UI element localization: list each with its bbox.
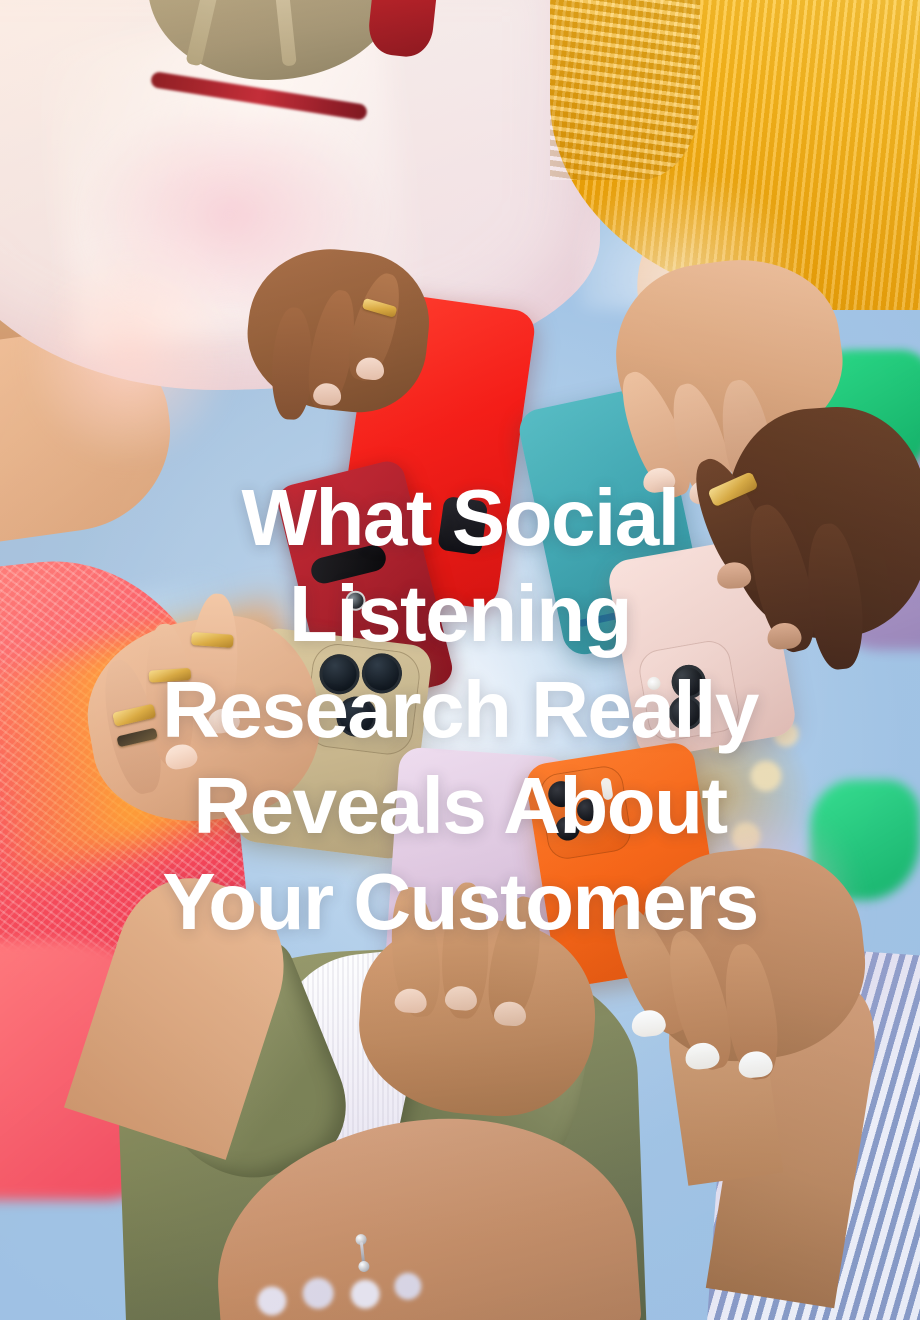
color-grade-vignette (0, 0, 920, 1320)
background-photo (0, 0, 920, 1320)
hero-image: What Social Listening Research Really Re… (0, 0, 920, 1320)
